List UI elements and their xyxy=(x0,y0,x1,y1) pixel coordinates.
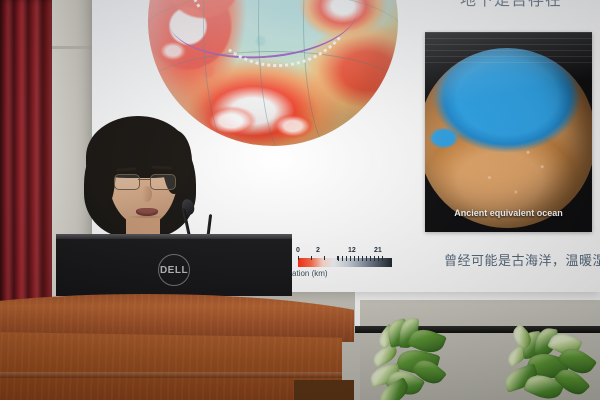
ocean-surface-speckle xyxy=(425,48,592,228)
ocean-mars-globe xyxy=(425,48,592,228)
dell-monitor: DELL xyxy=(56,234,292,296)
presenter-nose xyxy=(142,186,152,202)
slide-footer-cn: 曾经可能是古海洋，温暖湿 xyxy=(444,250,600,269)
colorbar-tick-0: 0 xyxy=(296,247,300,254)
wooden-podium xyxy=(0,294,354,400)
presenter-hair-fringe xyxy=(86,116,190,178)
colorbar-axis-label: ation (km) xyxy=(292,269,410,278)
colorbar-tick-12: 12 xyxy=(348,247,356,254)
ancient-ocean-image: Ancient equivalent ocean xyxy=(425,32,592,232)
red-curtain xyxy=(0,0,52,330)
colorbar-tick-21: 21 xyxy=(374,247,382,254)
podium-edge-highlight xyxy=(0,372,342,378)
dell-logo: DELL xyxy=(158,254,190,286)
wood-grain xyxy=(0,332,342,400)
podium-front-panel xyxy=(0,332,342,400)
presenter-mouth xyxy=(136,208,158,216)
ocean-image-caption: Ancient equivalent ocean xyxy=(425,208,592,218)
presentation-photo: Viking-2 乌托邦平原 祝融 ★ Perseverance Elysium… xyxy=(0,0,600,400)
projector-scanlines xyxy=(425,32,592,68)
glasses-lens-left xyxy=(114,174,140,190)
colorbar-tick-labels: 0 2 12 21 xyxy=(290,247,410,258)
glasses-lens-right xyxy=(150,174,176,190)
colorbar-minor-ticks xyxy=(338,256,384,261)
podium-side-panel xyxy=(294,380,354,400)
elevation-colorbar: 0 2 12 21 ation (km) xyxy=(290,247,410,278)
slide-heading-cn: 地下是否存在 xyxy=(460,0,562,10)
colorbar-tick-2: 2 xyxy=(316,247,320,254)
potted-plant-left xyxy=(370,318,460,400)
glasses-bridge xyxy=(138,179,150,180)
potted-plant-right xyxy=(500,326,600,400)
colorbar-major-ticks xyxy=(298,256,338,260)
monitor-bezel xyxy=(56,234,292,239)
wall-seam xyxy=(52,46,92,49)
